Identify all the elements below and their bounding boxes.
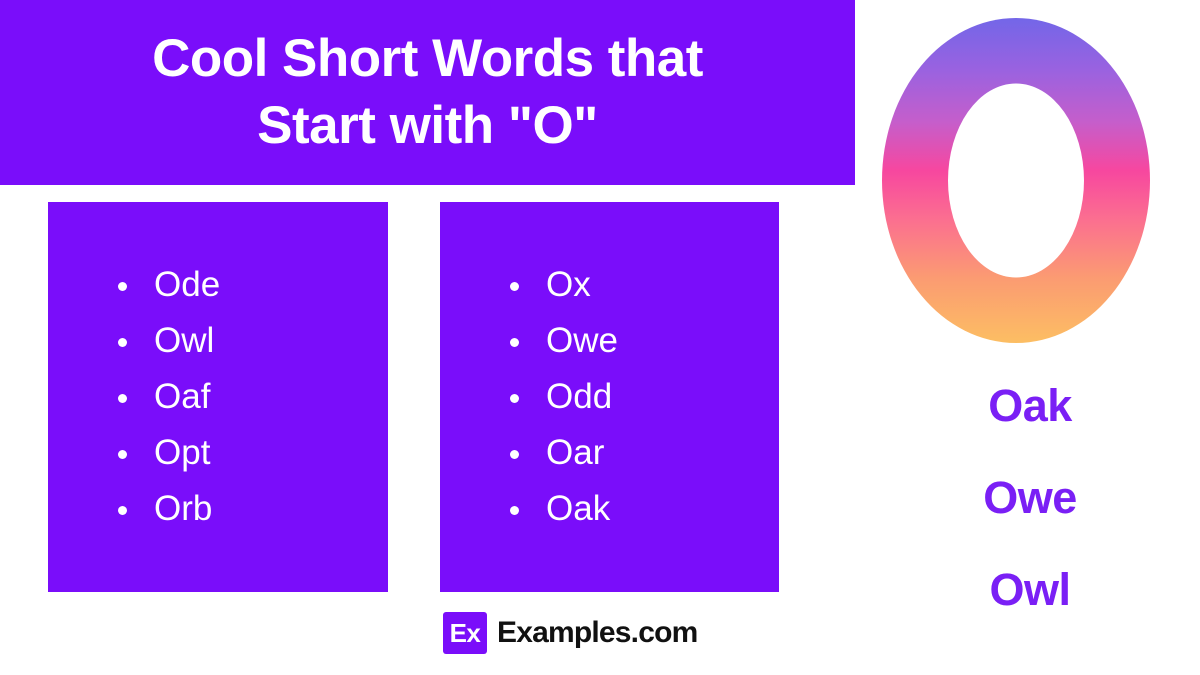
brand-logo[interactable]: Ex Examples.com [443,612,698,654]
infographic-page: Cool Short Words that Start with "O" Ode… [0,0,1200,675]
right-word-box: Ox Owe Odd Oar Oak [440,202,779,592]
right-word-item: Oak [860,360,1200,452]
list-item: Owe [510,313,779,369]
list-item: Oar [510,425,779,481]
letter-o-icon [882,18,1150,343]
page-title: Cool Short Words that Start with "O" [112,26,743,159]
brand-name: Examples.com [497,616,698,650]
list-item: Owl [118,313,388,369]
right-word-list: Ox Owe Odd Oar Oak [440,257,779,537]
list-item: Ode [118,257,388,313]
list-item: Oak [510,481,779,537]
header-band: Cool Short Words that Start with "O" [0,0,855,185]
left-word-box: Ode Owl Oaf Opt Orb [48,202,388,592]
list-item: Ox [510,257,779,313]
right-word-item: Owe [860,452,1200,544]
right-word-item: Owl [860,544,1200,636]
right-panel: Oak Owe Owl [860,0,1200,675]
list-item: Orb [118,481,388,537]
right-word-column-list: Oak Owe Owl [860,360,1200,636]
list-item: Oaf [118,369,388,425]
list-item: Odd [510,369,779,425]
list-item: Opt [118,425,388,481]
left-word-list: Ode Owl Oaf Opt Orb [48,257,388,537]
examples-logo-icon: Ex [443,612,487,654]
